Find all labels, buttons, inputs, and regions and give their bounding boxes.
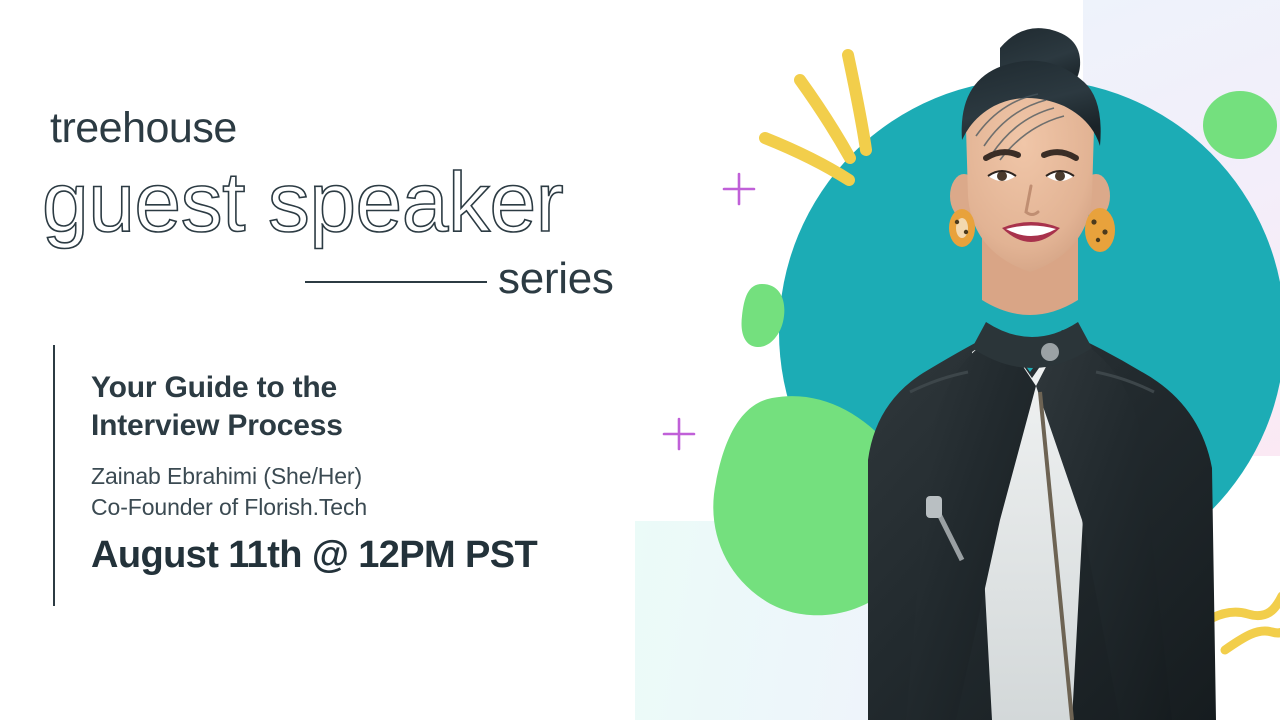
session-datetime: August 11th @ 12PM PST bbox=[91, 536, 537, 574]
earring-left bbox=[949, 209, 975, 247]
speaker-details: Zainab Ebrahimi (She/Her) Co-Founder of … bbox=[91, 461, 367, 523]
text-column: treehouse guest speaker series Your Guid… bbox=[0, 0, 700, 720]
series-label: series bbox=[498, 257, 614, 301]
earring-right bbox=[1085, 208, 1115, 252]
speaker-portrait bbox=[700, 0, 1280, 720]
jacket-snap-button bbox=[1041, 343, 1059, 361]
headline-outlined: guest speaker bbox=[42, 160, 563, 244]
promo-graphic-canvas: treehouse guest speaker series Your Guid… bbox=[0, 0, 1280, 720]
portrait-figure bbox=[868, 28, 1216, 720]
series-divider-rule bbox=[305, 281, 487, 283]
brand-wordmark: treehouse bbox=[50, 107, 237, 150]
session-title: Your Guide to the Interview Process bbox=[91, 369, 343, 446]
accent-vertical-rule bbox=[53, 345, 55, 606]
